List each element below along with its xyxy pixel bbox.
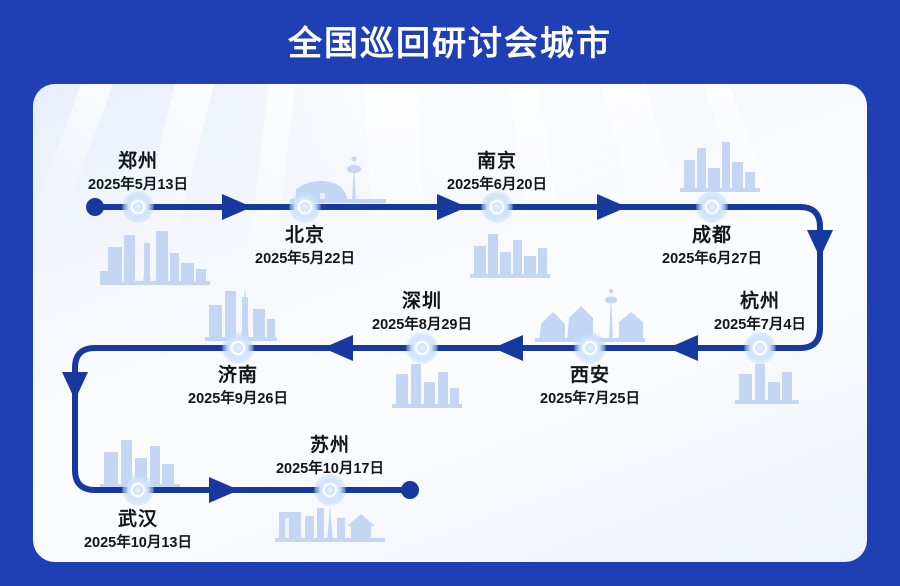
city-date: 2025年7月25日: [510, 390, 670, 408]
city-name: 南京: [417, 150, 577, 174]
city-date: 2025年9月26日: [158, 390, 318, 408]
timeline-node-suzhou[interactable]: [314, 474, 346, 506]
city-label-nanjing: 南京 2025年6月20日: [417, 150, 577, 194]
timeline-node-zhengzhou[interactable]: [122, 191, 154, 223]
city-date: 2025年6月27日: [632, 250, 792, 268]
timeline-node-shenzhen[interactable]: [406, 332, 438, 364]
city-label-jinan: 济南 2025年9月26日: [158, 364, 318, 408]
city-label-xian: 西安 2025年7月25日: [510, 364, 670, 408]
city-name: 郑州: [58, 150, 218, 174]
city-date: 2025年10月13日: [58, 534, 218, 552]
timeline-node-jinan[interactable]: [222, 332, 254, 364]
light-ray-decor: [594, 84, 686, 243]
city-name: 成都: [632, 224, 792, 248]
city-date: 2025年8月29日: [342, 316, 502, 334]
skyline-icon-zhengzhou: [100, 225, 210, 285]
city-name: 北京: [225, 224, 385, 248]
skyline-icon-hangzhou: [735, 358, 799, 404]
city-name: 济南: [158, 364, 318, 388]
city-label-chengdu: 成都 2025年6月27日: [632, 224, 792, 268]
timeline-node-xian[interactable]: [574, 332, 606, 364]
timeline-node-wuhan[interactable]: [122, 474, 154, 506]
city-date: 2025年5月22日: [225, 250, 385, 268]
timeline-node-hangzhou[interactable]: [744, 332, 776, 364]
timeline-node-beijing[interactable]: [289, 191, 321, 223]
city-name: 杭州: [680, 290, 840, 314]
city-name: 武汉: [58, 508, 218, 532]
city-name: 深圳: [342, 290, 502, 314]
city-label-shenzhen: 深圳 2025年8月29日: [342, 290, 502, 334]
skyline-icon-nanjing: [470, 222, 550, 278]
city-date: 2025年7月4日: [680, 316, 840, 334]
city-date: 2025年6月20日: [417, 176, 577, 194]
city-label-wuhan: 武汉 2025年10月13日: [58, 508, 218, 552]
city-name: 西安: [510, 364, 670, 388]
skyline-icon-shenzhen: [392, 360, 462, 408]
city-name: 苏州: [250, 434, 410, 458]
page-title: 全国巡回研讨会城市: [0, 16, 900, 65]
city-date: 2025年5月13日: [58, 176, 218, 194]
city-date: 2025年10月17日: [250, 460, 410, 478]
skyline-icon-chengdu: [680, 140, 760, 192]
city-label-zhengzhou: 郑州 2025年5月13日: [58, 150, 218, 194]
city-label-beijing: 北京 2025年5月22日: [225, 224, 385, 268]
city-label-suzhou: 苏州 2025年10月17日: [250, 434, 410, 478]
timeline-node-nanjing[interactable]: [481, 191, 513, 223]
timeline-node-chengdu[interactable]: [696, 191, 728, 223]
city-label-hangzhou: 杭州 2025年7月4日: [680, 290, 840, 334]
